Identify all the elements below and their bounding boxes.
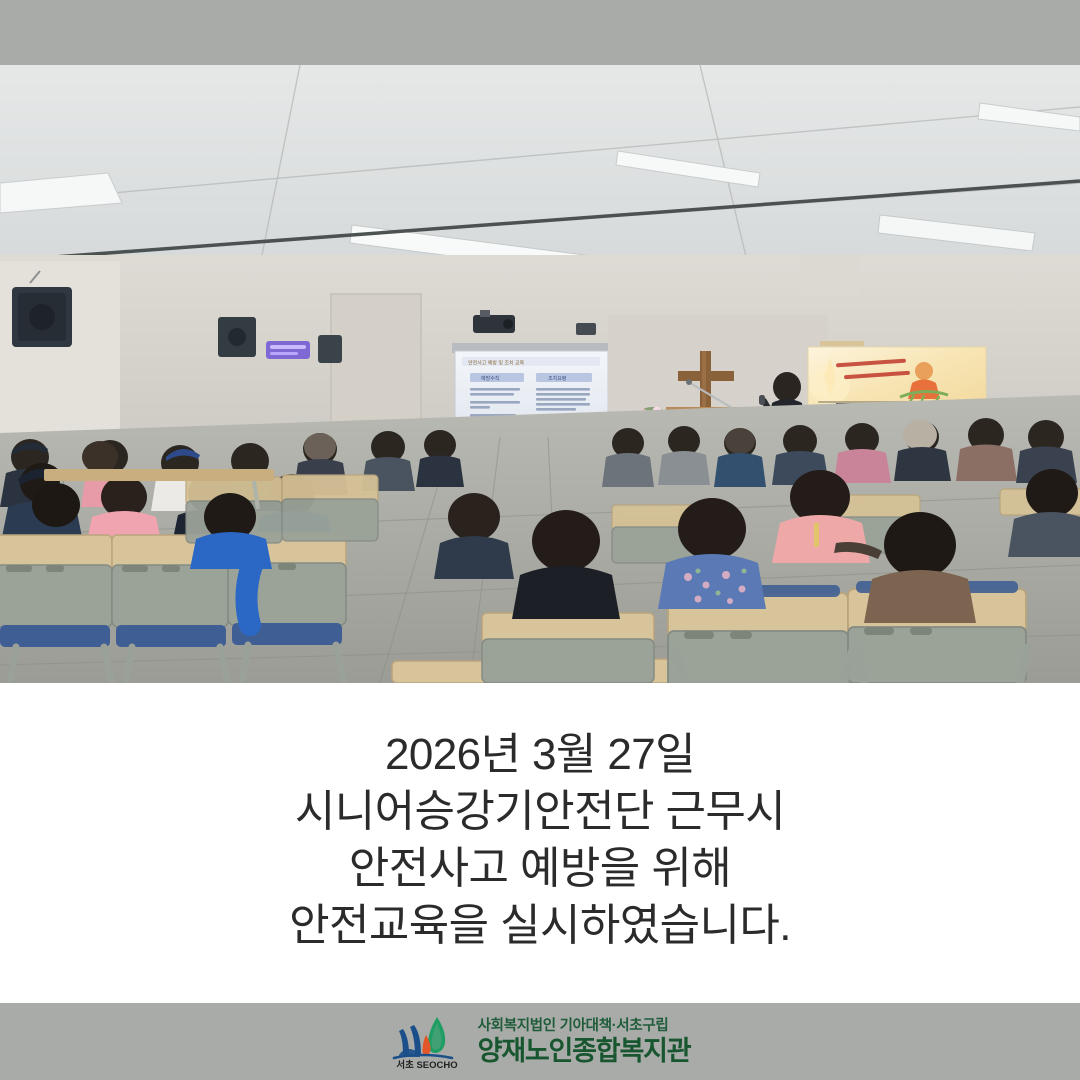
caption-line-1: 2026년 3월 27일 <box>385 726 695 783</box>
org-subtitle: 사회복지법인 기아대책·서초구립 <box>478 1018 691 1035</box>
footer-bar: 서초 SEOCHO 사회복지법인 기아대책·서초구립 양재노인종합복지관 <box>0 1003 1080 1080</box>
caption-block: 2026년 3월 27일 시니어승강기안전단 근무시 안전사고 예방을 위해 안… <box>0 683 1080 1003</box>
info-card: 안전사고 예방 및 조치 교육 예방수칙 조치요령 <box>0 0 1080 1080</box>
logo-wordmark: 서초 SEOCHO <box>396 1059 457 1071</box>
ceiling-projector-2 <box>576 323 596 335</box>
slide-title: 안전사고 예방 및 조치 교육 <box>468 360 525 367</box>
caption-line-2: 시니어승강기안전단 근무시 <box>295 783 785 840</box>
slide-right-heading: 조치요령 <box>548 375 566 382</box>
top-band <box>0 0 1080 65</box>
photo-illustration: 안전사고 예방 및 조치 교육 예방수칙 조치요령 <box>0 65 1080 683</box>
org-name: 양재노인종합복지관 <box>478 1036 691 1066</box>
footer-org-text: 사회복지법인 기아대책·서초구립 양재노인종합복지관 <box>478 1018 691 1066</box>
caption-line-4: 안전교육을 실시하였습니다. <box>289 897 791 954</box>
event-photo: 안전사고 예방 및 조치 교육 예방수칙 조치요령 <box>0 65 1080 683</box>
seocho-gate-logo: 서초 SEOCHO <box>390 1013 464 1071</box>
slide-left-heading: 예방수칙 <box>481 375 499 382</box>
logo-icon: 서초 SEOCHO <box>390 1013 464 1071</box>
wall-speaker-2 <box>218 317 256 357</box>
neon-sign <box>266 341 310 359</box>
caption-line-3: 안전사고 예방을 위해 <box>349 840 731 897</box>
logo-swoosh-icon <box>394 1055 452 1058</box>
wall-speaker-3 <box>318 335 342 363</box>
